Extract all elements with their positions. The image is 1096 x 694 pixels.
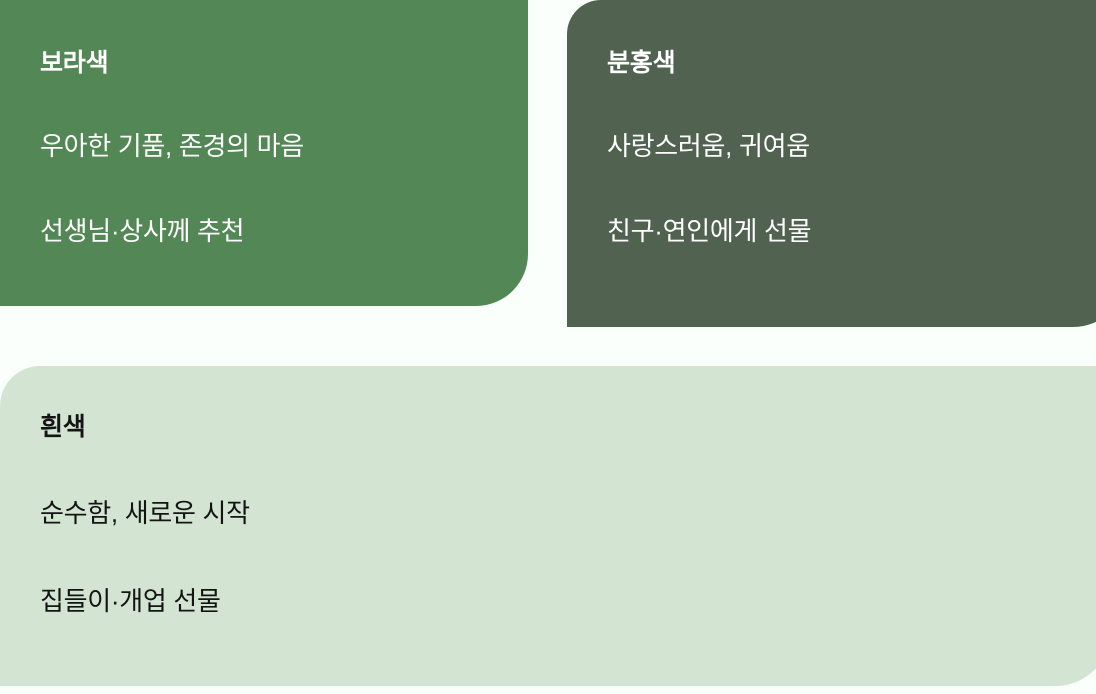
- color-card-white[interactable]: 흰색 순수함, 새로운 시작 집들이·개업 선물: [0, 366, 1096, 686]
- card-title-pink: 분홍색: [607, 48, 1091, 78]
- card-meaning-pink: 사랑스러움, 귀여움: [607, 130, 1091, 163]
- card-grid: 보라색 우아한 기품, 존경의 마음 선생님·상사께 추천 분홍색 사랑스러움,…: [0, 0, 1096, 694]
- color-card-purple[interactable]: 보라색 우아한 기품, 존경의 마음 선생님·상사께 추천: [0, 0, 528, 306]
- card-title-purple: 보라색: [40, 48, 492, 78]
- card-recommendation-white: 집들이·개업 선물: [40, 585, 1074, 618]
- card-meaning-white: 순수함, 새로운 시작: [40, 497, 1074, 530]
- card-recommendation-pink: 친구·연인에게 선물: [607, 215, 1091, 248]
- card-title-white: 흰색: [40, 412, 1074, 442]
- card-recommendation-purple: 선생님·상사께 추천: [40, 215, 492, 248]
- color-card-pink[interactable]: 분홍색 사랑스러움, 귀여움 친구·연인에게 선물: [567, 0, 1096, 327]
- card-meaning-purple: 우아한 기품, 존경의 마음: [40, 130, 492, 163]
